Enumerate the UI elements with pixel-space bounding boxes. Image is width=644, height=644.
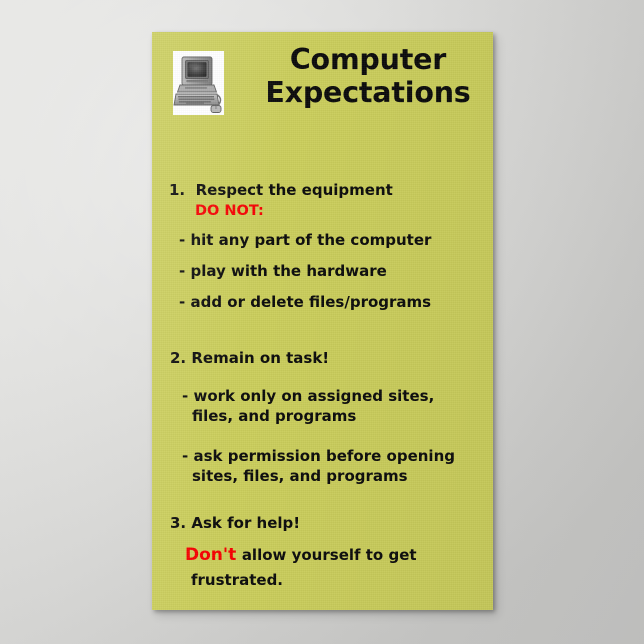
vintage-desktop-computer-icon: [173, 51, 224, 115]
section-1-bullet-3: - add or delete files/programs: [179, 292, 431, 312]
bullet-text-line-2: sites, files, and programs: [182, 466, 487, 486]
page-title: Computer Expectations: [248, 43, 488, 109]
section-1-bullet-1: - hit any part of the computer: [179, 230, 431, 250]
section-3-closing-line-1: allow yourself to get: [242, 546, 417, 564]
section-3-heading-row: 3. Ask for help!: [170, 514, 300, 533]
section-3-closing-line-2: frustrated.: [185, 565, 485, 589]
section-1-bullet-2: - play with the hardware: [179, 261, 387, 281]
bullet-marker: -: [182, 447, 188, 465]
section-2-heading: Remain on task!: [191, 349, 329, 367]
bullet-text: ask permission before opening: [193, 447, 455, 465]
title-line-2: Expectations: [248, 76, 488, 109]
section-1-number: 1.: [169, 181, 185, 199]
section-3-heading: Ask for help!: [191, 514, 300, 532]
classroom-poster: Computer Expectations 1. Respect the equ…: [152, 32, 493, 610]
bullet-text: play with the hardware: [190, 262, 386, 280]
wall-background: Computer Expectations 1. Respect the equ…: [0, 0, 644, 644]
poster-header: Computer Expectations: [152, 32, 493, 142]
bullet-marker: -: [179, 262, 185, 280]
section-2-number: 2.: [170, 349, 186, 367]
bullet-text-line-2: files, and programs: [182, 406, 482, 426]
section-3-closing: Don't allow yourself to get frustrated.: [185, 545, 485, 589]
section-1-emphasis: DO NOT:: [195, 202, 264, 221]
bullet-marker: -: [179, 293, 185, 311]
section-1-heading-row: 1. Respect the equipment: [169, 181, 393, 200]
section-2-bullet-1: - work only on assigned sites, files, an…: [182, 386, 482, 426]
section-2-heading-row: 2. Remain on task!: [170, 349, 329, 368]
section-2-bullet-2: - ask permission before opening sites, f…: [182, 446, 487, 486]
section-3-emphasis: Don't: [185, 545, 236, 565]
bullet-text: work only on assigned sites,: [193, 387, 434, 405]
section-1-heading: Respect the equipment: [196, 181, 393, 199]
bullet-text: hit any part of the computer: [190, 231, 431, 249]
section-3-number: 3.: [170, 514, 186, 532]
bullet-text: add or delete files/programs: [190, 293, 431, 311]
bullet-marker: -: [179, 231, 185, 249]
title-line-1: Computer: [248, 43, 488, 76]
bullet-marker: -: [182, 387, 188, 405]
